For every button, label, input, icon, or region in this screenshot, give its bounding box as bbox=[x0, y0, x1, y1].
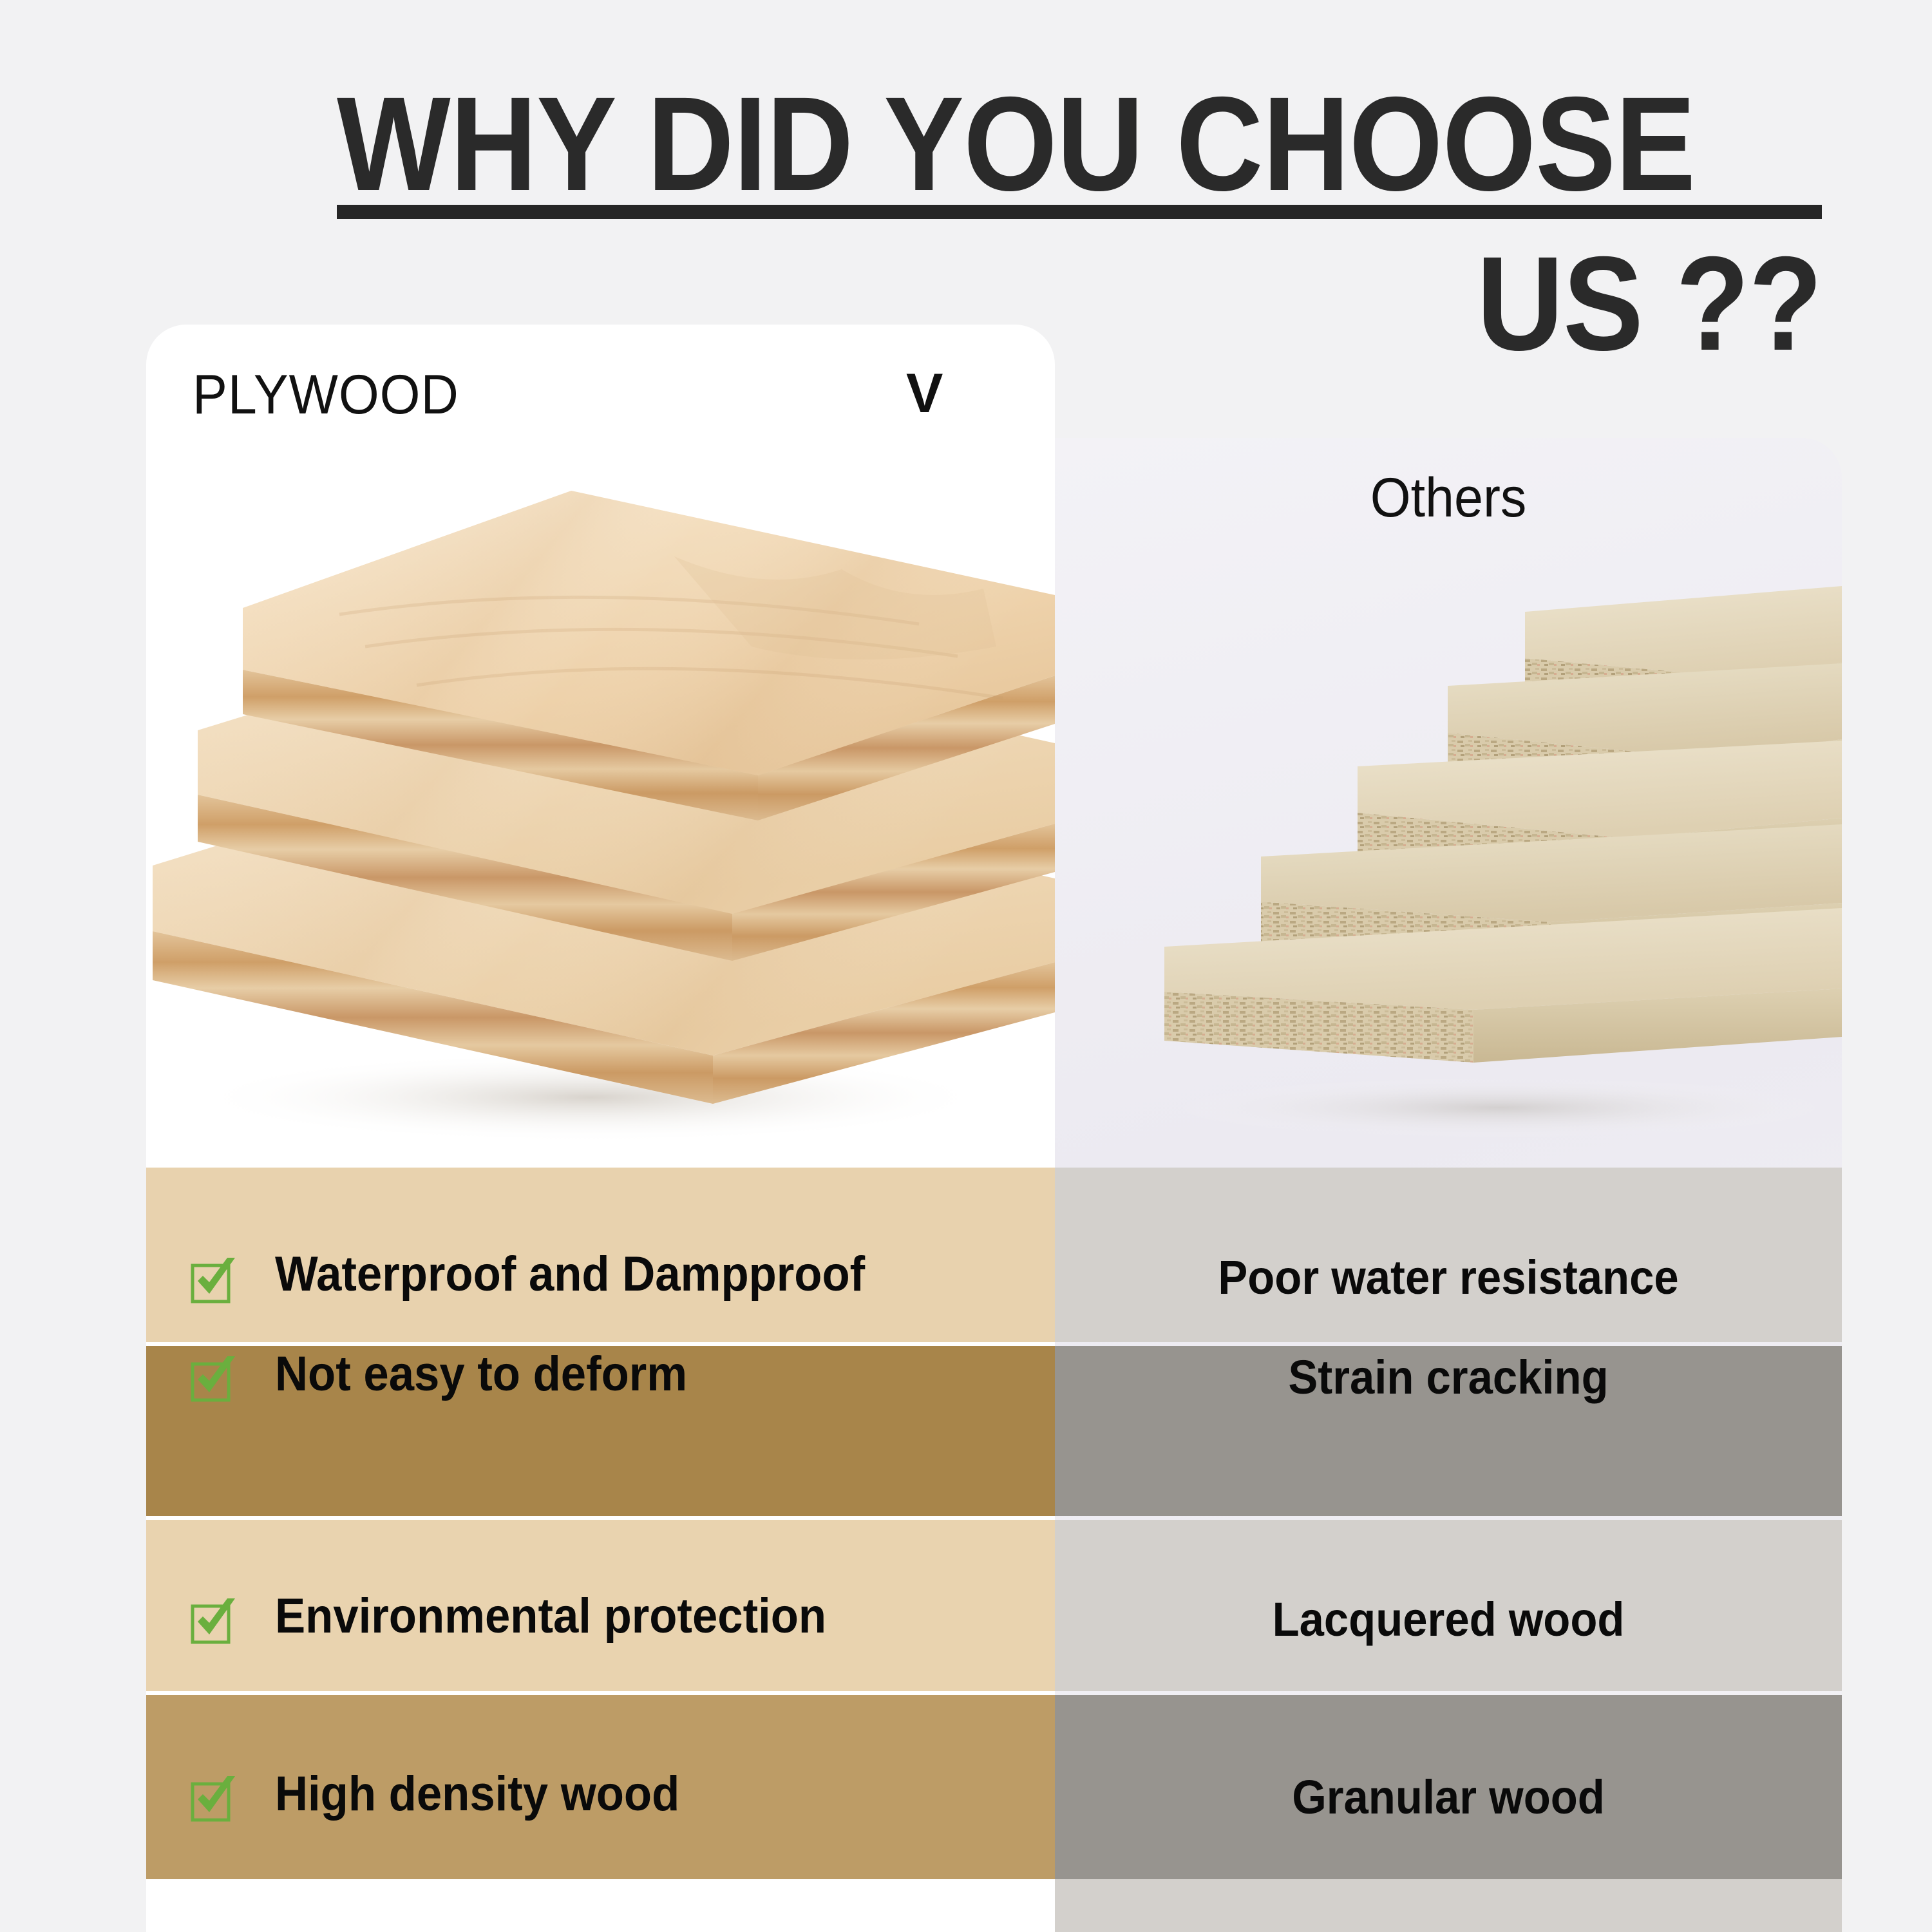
green-check-box-icon bbox=[190, 1355, 238, 1403]
others-cell: Strain cracking bbox=[1055, 1346, 1842, 1516]
others-label: Others bbox=[1079, 466, 1819, 530]
plywood-stack-illustration bbox=[146, 453, 1055, 1162]
plywood-cell bbox=[146, 1879, 1055, 1932]
table-row bbox=[146, 1879, 1842, 1932]
plywood-feature-label: Environmental protection bbox=[275, 1588, 826, 1644]
others-cell bbox=[1055, 1879, 1842, 1932]
green-check-box-icon bbox=[190, 1775, 238, 1823]
plywood-cell: Waterproof and Dampproof bbox=[146, 1168, 1055, 1342]
others-feature-label: Granular wood bbox=[1083, 1770, 1814, 1824]
plywood-stack-photo bbox=[146, 453, 1055, 1162]
others-feature-label: Poor water resistance bbox=[1083, 1250, 1814, 1305]
table-row: Not easy to deform Strain cracking bbox=[146, 1346, 1842, 1516]
plywood-label: PLYWOOD bbox=[193, 363, 459, 427]
particleboard-stack-photo bbox=[1139, 586, 1842, 1140]
chevron-v-icon: V bbox=[906, 362, 943, 426]
green-check-box-icon bbox=[190, 1597, 238, 1645]
particleboard-stack-illustration bbox=[1139, 586, 1842, 1140]
plywood-feature-label: High density wood bbox=[275, 1766, 679, 1822]
others-feature-label: Strain cracking bbox=[1083, 1350, 1814, 1405]
page-title-line-1: WHY DID YOU CHOOSE bbox=[337, 77, 1673, 211]
others-cell: Poor water resistance bbox=[1055, 1168, 1842, 1342]
plywood-cell: Environmental protection bbox=[146, 1520, 1055, 1691]
table-row: High density wood Granular wood bbox=[146, 1695, 1842, 1879]
plywood-cell: Not easy to deform bbox=[146, 1346, 1055, 1516]
plywood-cell: High density wood bbox=[146, 1695, 1055, 1879]
others-cell: Granular wood bbox=[1055, 1695, 1842, 1879]
plywood-feature-label: Waterproof and Dampproof bbox=[275, 1246, 865, 1302]
others-cell: Lacquered wood bbox=[1055, 1520, 1842, 1691]
others-feature-label: Lacquered wood bbox=[1083, 1592, 1814, 1647]
comparison-table: Waterproof and Dampproof Poor water resi… bbox=[146, 1168, 1842, 1932]
title-underline-rule bbox=[337, 205, 1822, 219]
green-check-box-icon bbox=[190, 1256, 238, 1304]
plywood-feature-label: Not easy to deform bbox=[275, 1346, 687, 1402]
table-row: Environmental protection Lacquered wood bbox=[146, 1520, 1842, 1691]
table-row: Waterproof and Dampproof Poor water resi… bbox=[146, 1168, 1842, 1342]
